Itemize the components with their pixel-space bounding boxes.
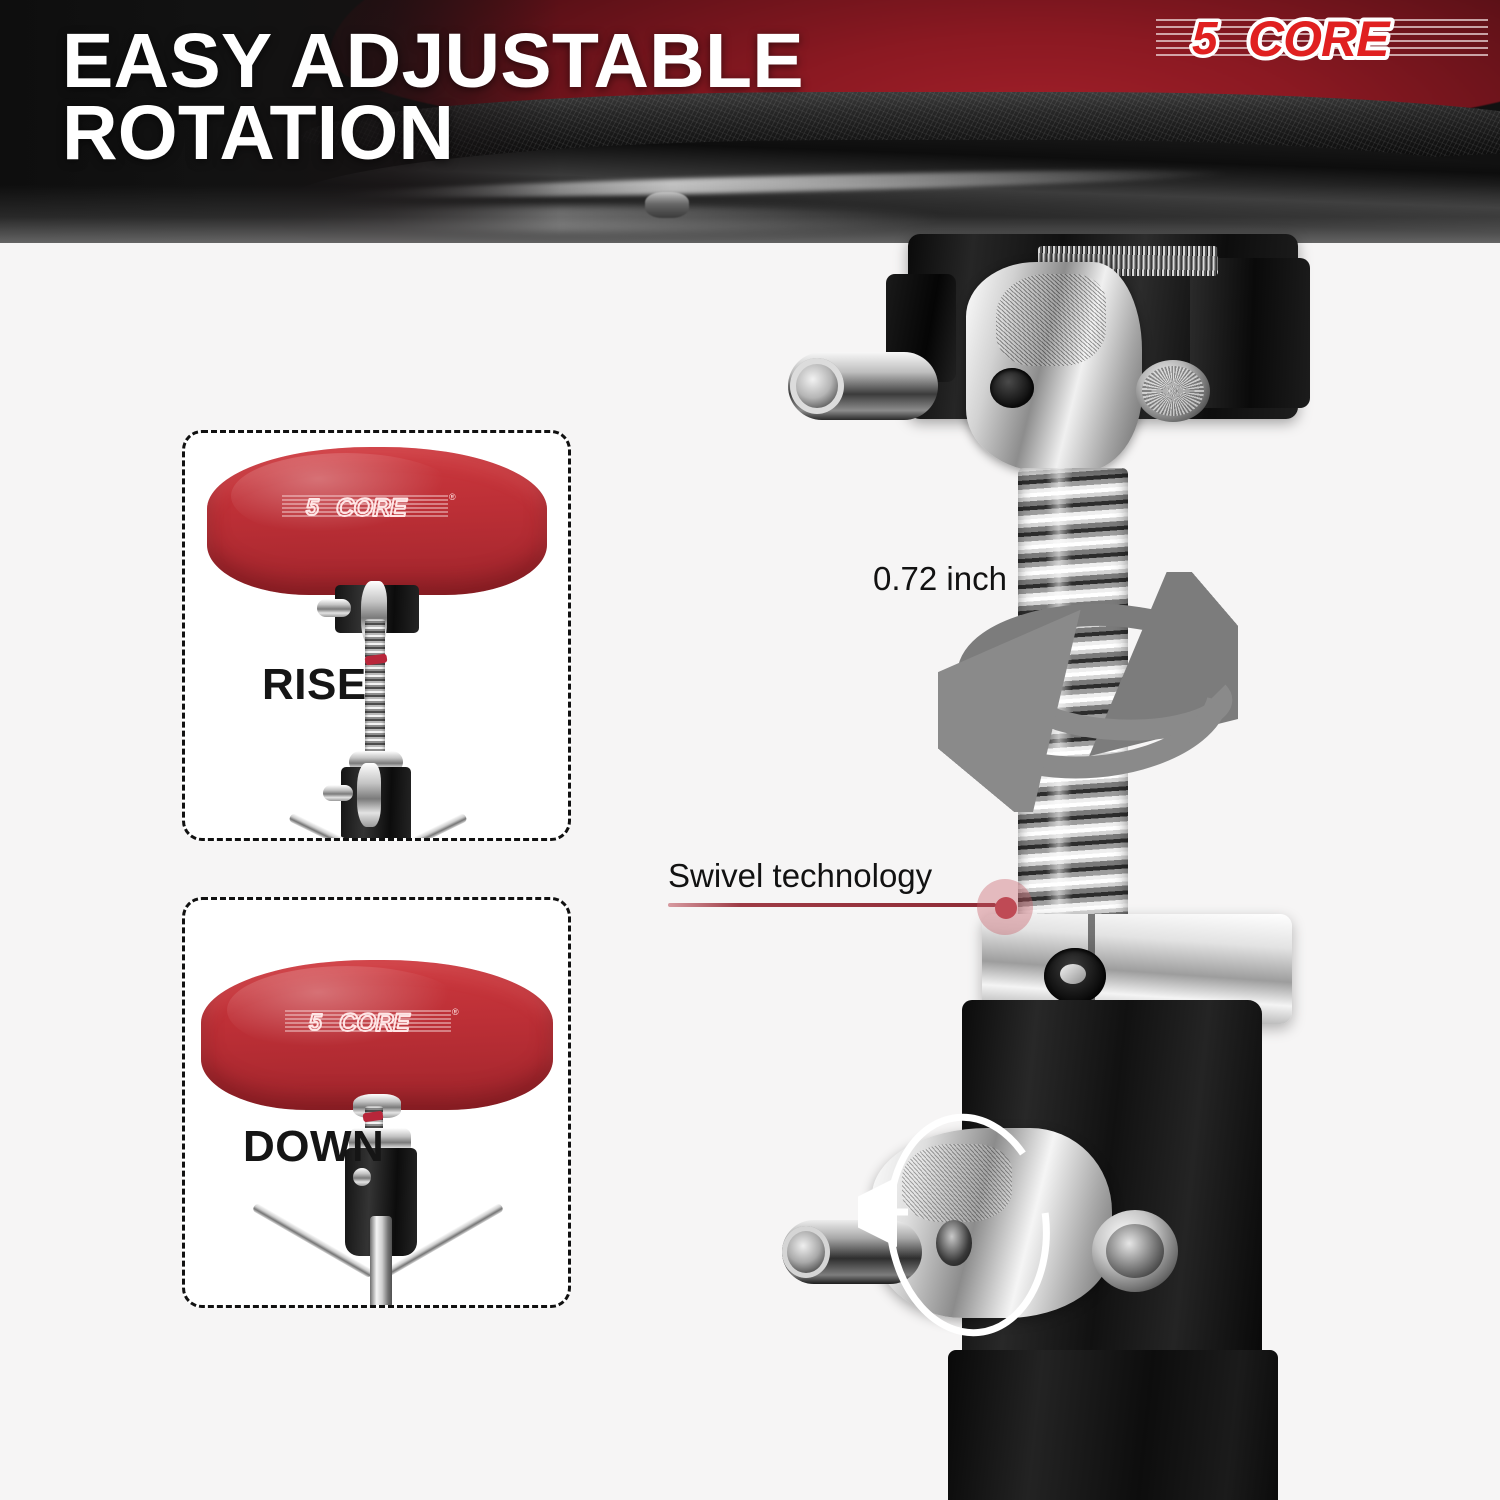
threaded-spindle <box>365 619 385 759</box>
page-title-line2: ROTATION <box>62 98 962 170</box>
threaded-bolt-right <box>1136 360 1210 422</box>
svg-text:CORE: CORE <box>336 494 408 522</box>
main-product-photo <box>760 200 1500 1500</box>
cushion-brand-logo: 5 CORE ® <box>280 489 460 523</box>
svg-text:5: 5 <box>306 494 320 520</box>
svg-text:®: ® <box>449 492 456 502</box>
product-feature-image: EASY ADJUSTABLE ROTATION 5 5 CORE CORE <box>0 0 1500 1500</box>
stool-illustration-rise: 5 CORE ® <box>185 433 568 838</box>
svg-text:CORE: CORE <box>339 1009 411 1037</box>
cam-lever-pivot-hole <box>990 368 1034 408</box>
callout-swivel-marker-dot <box>995 897 1017 919</box>
wing-nut-hole <box>936 1220 972 1266</box>
brand-logo: 5 5 CORE CORE <box>1152 6 1492 68</box>
panel-rise[interactable]: 5 CORE ® <box>182 430 571 841</box>
callout-swivel-leader-line <box>668 903 996 907</box>
lower-knob <box>323 785 353 801</box>
5-core-logo-icon: 5 5 CORE CORE <box>1152 6 1492 68</box>
black-leg-body-lower <box>948 1350 1278 1500</box>
panel-rise-label: RISE <box>262 660 367 710</box>
clamp-bolt-hole <box>1044 948 1106 1004</box>
svg-text:5: 5 <box>1192 12 1219 64</box>
callout-thread-measure: 0.72 inch <box>873 560 1007 598</box>
knob-ring-left <box>790 358 844 414</box>
cam-lever-texture <box>996 274 1106 366</box>
svg-text:5: 5 <box>309 1009 323 1035</box>
page-title: EASY ADJUSTABLE ROTATION <box>62 26 962 169</box>
spindle-highlight <box>1046 468 1072 928</box>
knob-ring-lower-left <box>782 1226 830 1278</box>
wing-nut-texture <box>902 1144 1012 1222</box>
cushion-brand-logo: 5 CORE ® <box>283 1004 463 1038</box>
threaded-bolt-lower-right <box>1092 1210 1178 1292</box>
center-pipe <box>370 1216 392 1308</box>
svg-text:®: ® <box>452 1007 459 1017</box>
panel-down[interactable]: 5 CORE ® <box>182 897 571 1308</box>
upper-knob <box>317 599 351 617</box>
lower-cam-lever <box>357 763 381 827</box>
svg-text:CORE: CORE <box>1248 11 1391 67</box>
panel-down-label: DOWN <box>243 1122 384 1172</box>
callout-swivel-label: Swivel technology <box>668 857 932 895</box>
threaded-spindle-main <box>1018 468 1128 928</box>
stool-illustration-down: 5 CORE ® <box>185 900 568 1305</box>
